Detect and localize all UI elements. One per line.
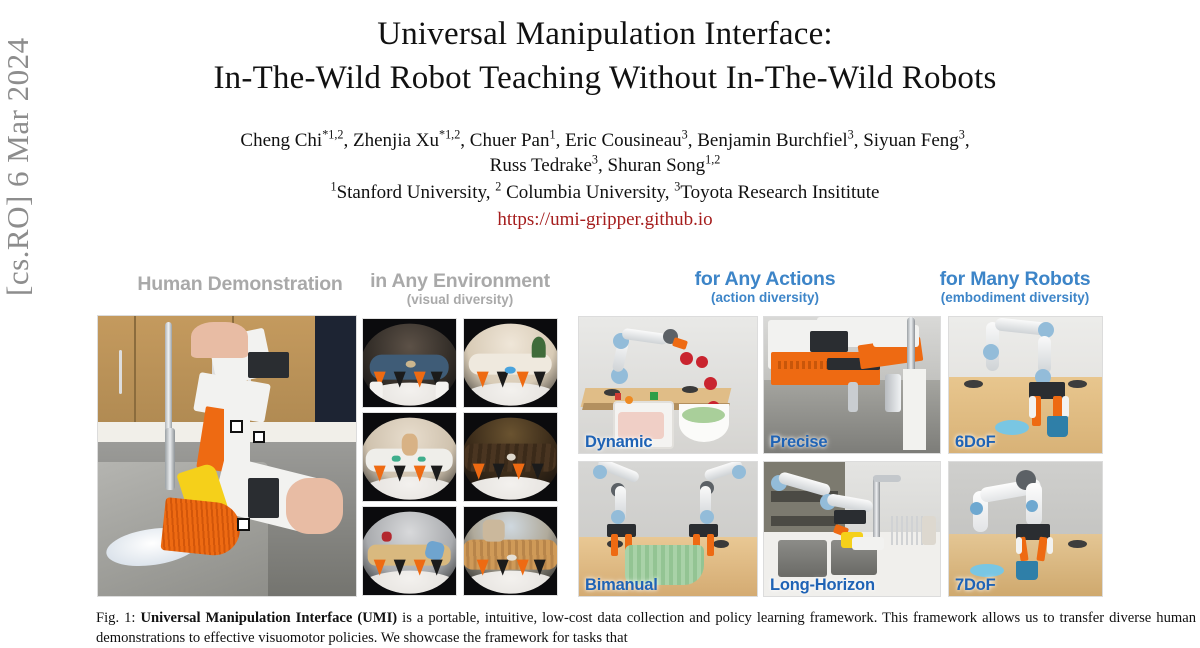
photo-panel-long-horizon: Long-Horizon — [763, 461, 941, 597]
author-name: Russ Tedrake3 — [490, 155, 598, 176]
photo-panel-precise: Precise — [763, 316, 941, 454]
panel-label-dynamic: Dynamic — [585, 433, 652, 452]
panel-label-precise: Precise — [770, 433, 827, 452]
author-name: Shuran Song1,2 — [608, 155, 721, 176]
author-name: Eric Cousineau3 — [565, 130, 688, 151]
header-main-text: Human Demonstration — [120, 275, 360, 295]
photo-panel-7dof: 7DoF — [948, 461, 1103, 597]
author-name: Cheng Chi*1,2 — [240, 130, 343, 151]
header-main-text: for Any Actions — [600, 270, 930, 290]
figure-caption: Fig. 1: Universal Manipulation Interface… — [96, 608, 1196, 648]
figure-header-environment: in Any Environment (visual diversity) — [350, 272, 570, 307]
author-affiliation-marker: 3 — [848, 128, 854, 142]
fisheye-photo-5 — [362, 506, 457, 596]
panel-label-7dof: 7DoF — [955, 576, 995, 595]
authors-line-2: Russ Tedrake3, Shuran Song1,2 — [100, 153, 1110, 178]
fisheye-photo-1 — [362, 318, 457, 408]
author-name: Benjamin Burchfiel3 — [697, 130, 853, 151]
fisheye-photo-4 — [463, 412, 558, 502]
affiliations-line: 1Stanford University, 2 Columbia Univers… — [100, 180, 1110, 205]
authors-line-1: Cheng Chi*1,2, Zhenjia Xu*1,2, Chuer Pan… — [100, 128, 1110, 153]
figure-header-robots: for Many Robots (embodiment diversity) — [910, 270, 1120, 305]
affiliation-name: Stanford University, — [337, 182, 491, 203]
author-block: Cheng Chi*1,2, Zhenjia Xu*1,2, Chuer Pan… — [100, 128, 1110, 233]
author-affiliation-marker: 3 — [959, 128, 965, 142]
panel-label-bimanual: Bimanual — [585, 576, 658, 595]
header-sub-text: (action diversity) — [600, 291, 930, 305]
affiliation-name: Columbia University, — [501, 182, 669, 203]
caption-bold-term: Universal Manipulation Interface (UMI) — [141, 610, 398, 626]
photo-panel-bimanual: Bimanual — [578, 461, 758, 597]
affiliation-name: Toyota Research Insititute — [680, 182, 879, 203]
author-name: Siyuan Feng3 — [863, 130, 965, 151]
author-affiliation-marker: *1,2 — [322, 128, 343, 142]
photo-panel-dynamic: Dynamic — [578, 316, 758, 454]
author-affiliation-marker: 1,2 — [705, 153, 720, 167]
author-affiliation-marker: 3 — [682, 128, 688, 142]
figure-header-actions: for Any Actions (action diversity) — [600, 270, 930, 305]
header-main-text: for Many Robots — [910, 270, 1120, 290]
arxiv-stamp: [cs.RO] 6 Mar 2024 — [0, 0, 36, 300]
author-name: Chuer Pan1 — [470, 130, 556, 151]
panel-label-6dof: 6DoF — [955, 433, 995, 452]
paper-page: [cs.RO] 6 Mar 2024 Universal Manipulatio… — [0, 0, 1200, 648]
header-sub-text: (embodiment diversity) — [910, 291, 1120, 305]
author-affiliation-marker: *1,2 — [439, 128, 460, 142]
caption-number: Fig. 1: — [96, 610, 135, 626]
fisheye-photo-6 — [463, 506, 558, 596]
title-line-1: Universal Manipulation Interface: — [100, 12, 1110, 56]
author-affiliation-marker: 1 — [549, 128, 555, 142]
fisheye-photo-3 — [362, 412, 457, 502]
paper-title: Universal Manipulation Interface: In-The… — [100, 12, 1110, 100]
photo-human-demonstration — [97, 315, 357, 597]
header-main-text: in Any Environment — [350, 272, 570, 292]
project-url-link[interactable]: https://umi-gripper.github.io — [100, 207, 1110, 233]
figure-header-human-demonstration: Human Demonstration — [120, 275, 360, 295]
panel-label-long-horizon: Long-Horizon — [770, 576, 875, 595]
header-sub-text: (visual diversity) — [350, 293, 570, 307]
author-name: Zhenjia Xu*1,2 — [353, 130, 460, 151]
title-line-2: In-The-Wild Robot Teaching Without In-Th… — [100, 56, 1110, 100]
fisheye-photo-2 — [463, 318, 558, 408]
author-affiliation-marker: 3 — [592, 153, 598, 167]
photo-panel-6dof: 6DoF — [948, 316, 1103, 454]
